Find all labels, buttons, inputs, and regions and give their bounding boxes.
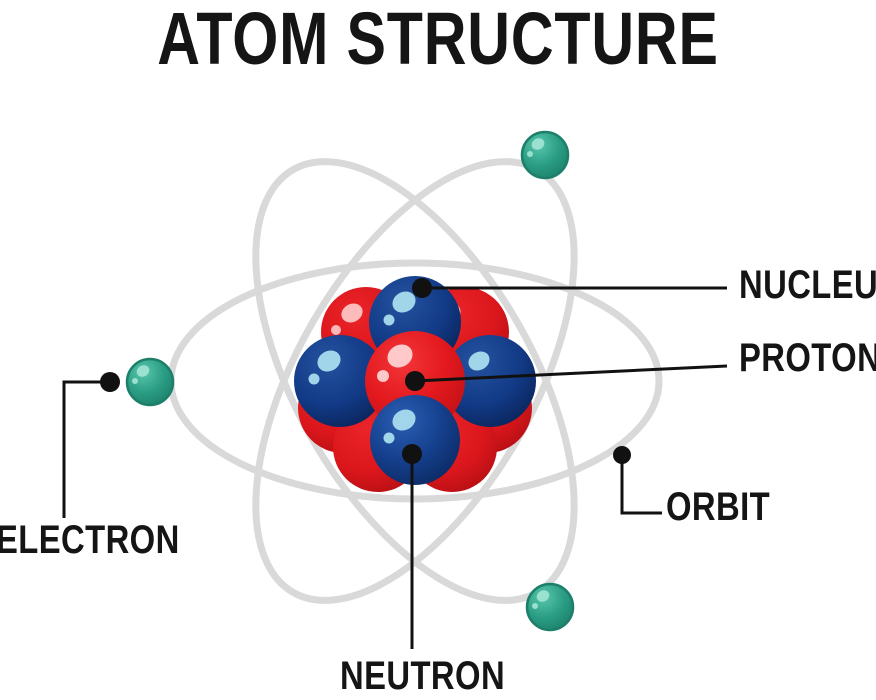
electron-highlight-dot [527, 151, 533, 157]
label-orbit: ORBIT [666, 486, 770, 528]
leader-dot-neutron [402, 444, 422, 464]
leader-dot-electron [100, 372, 120, 392]
neutron-highlight-dot [384, 315, 395, 326]
leader-dot-nucleus [412, 278, 432, 298]
electron-highlight-dot [532, 603, 538, 609]
proton-highlight-dot [331, 325, 341, 335]
neutron-front-layer [370, 395, 460, 485]
leader-dot-orbit [613, 446, 631, 464]
page-title: ATOM STRUCTURE [88, 0, 789, 82]
neutron-highlight-dot [309, 374, 320, 385]
electron-bottom-right [527, 584, 573, 630]
label-nucleus: NUCLEUS [739, 264, 876, 306]
neutron-sphere [370, 395, 460, 485]
label-electron: ELECTRON [0, 519, 180, 561]
electron-highlight-dot [132, 378, 138, 384]
label-proton: PROTON [739, 337, 876, 379]
leader-line-electron [64, 382, 110, 518]
electron-top-right [522, 132, 568, 178]
leader-line-orbit [622, 455, 662, 513]
label-neutron: NEUTRON [340, 655, 505, 697]
atom-structure-diagram: ATOM STRUCTURE NUCLEUS PROTON ORBIT ELEC… [0, 0, 876, 700]
proton-center-highlight-dot [377, 370, 389, 382]
leader-dot-proton [405, 371, 425, 391]
electron-left [127, 359, 173, 405]
neutron-highlight-dot [384, 433, 395, 444]
